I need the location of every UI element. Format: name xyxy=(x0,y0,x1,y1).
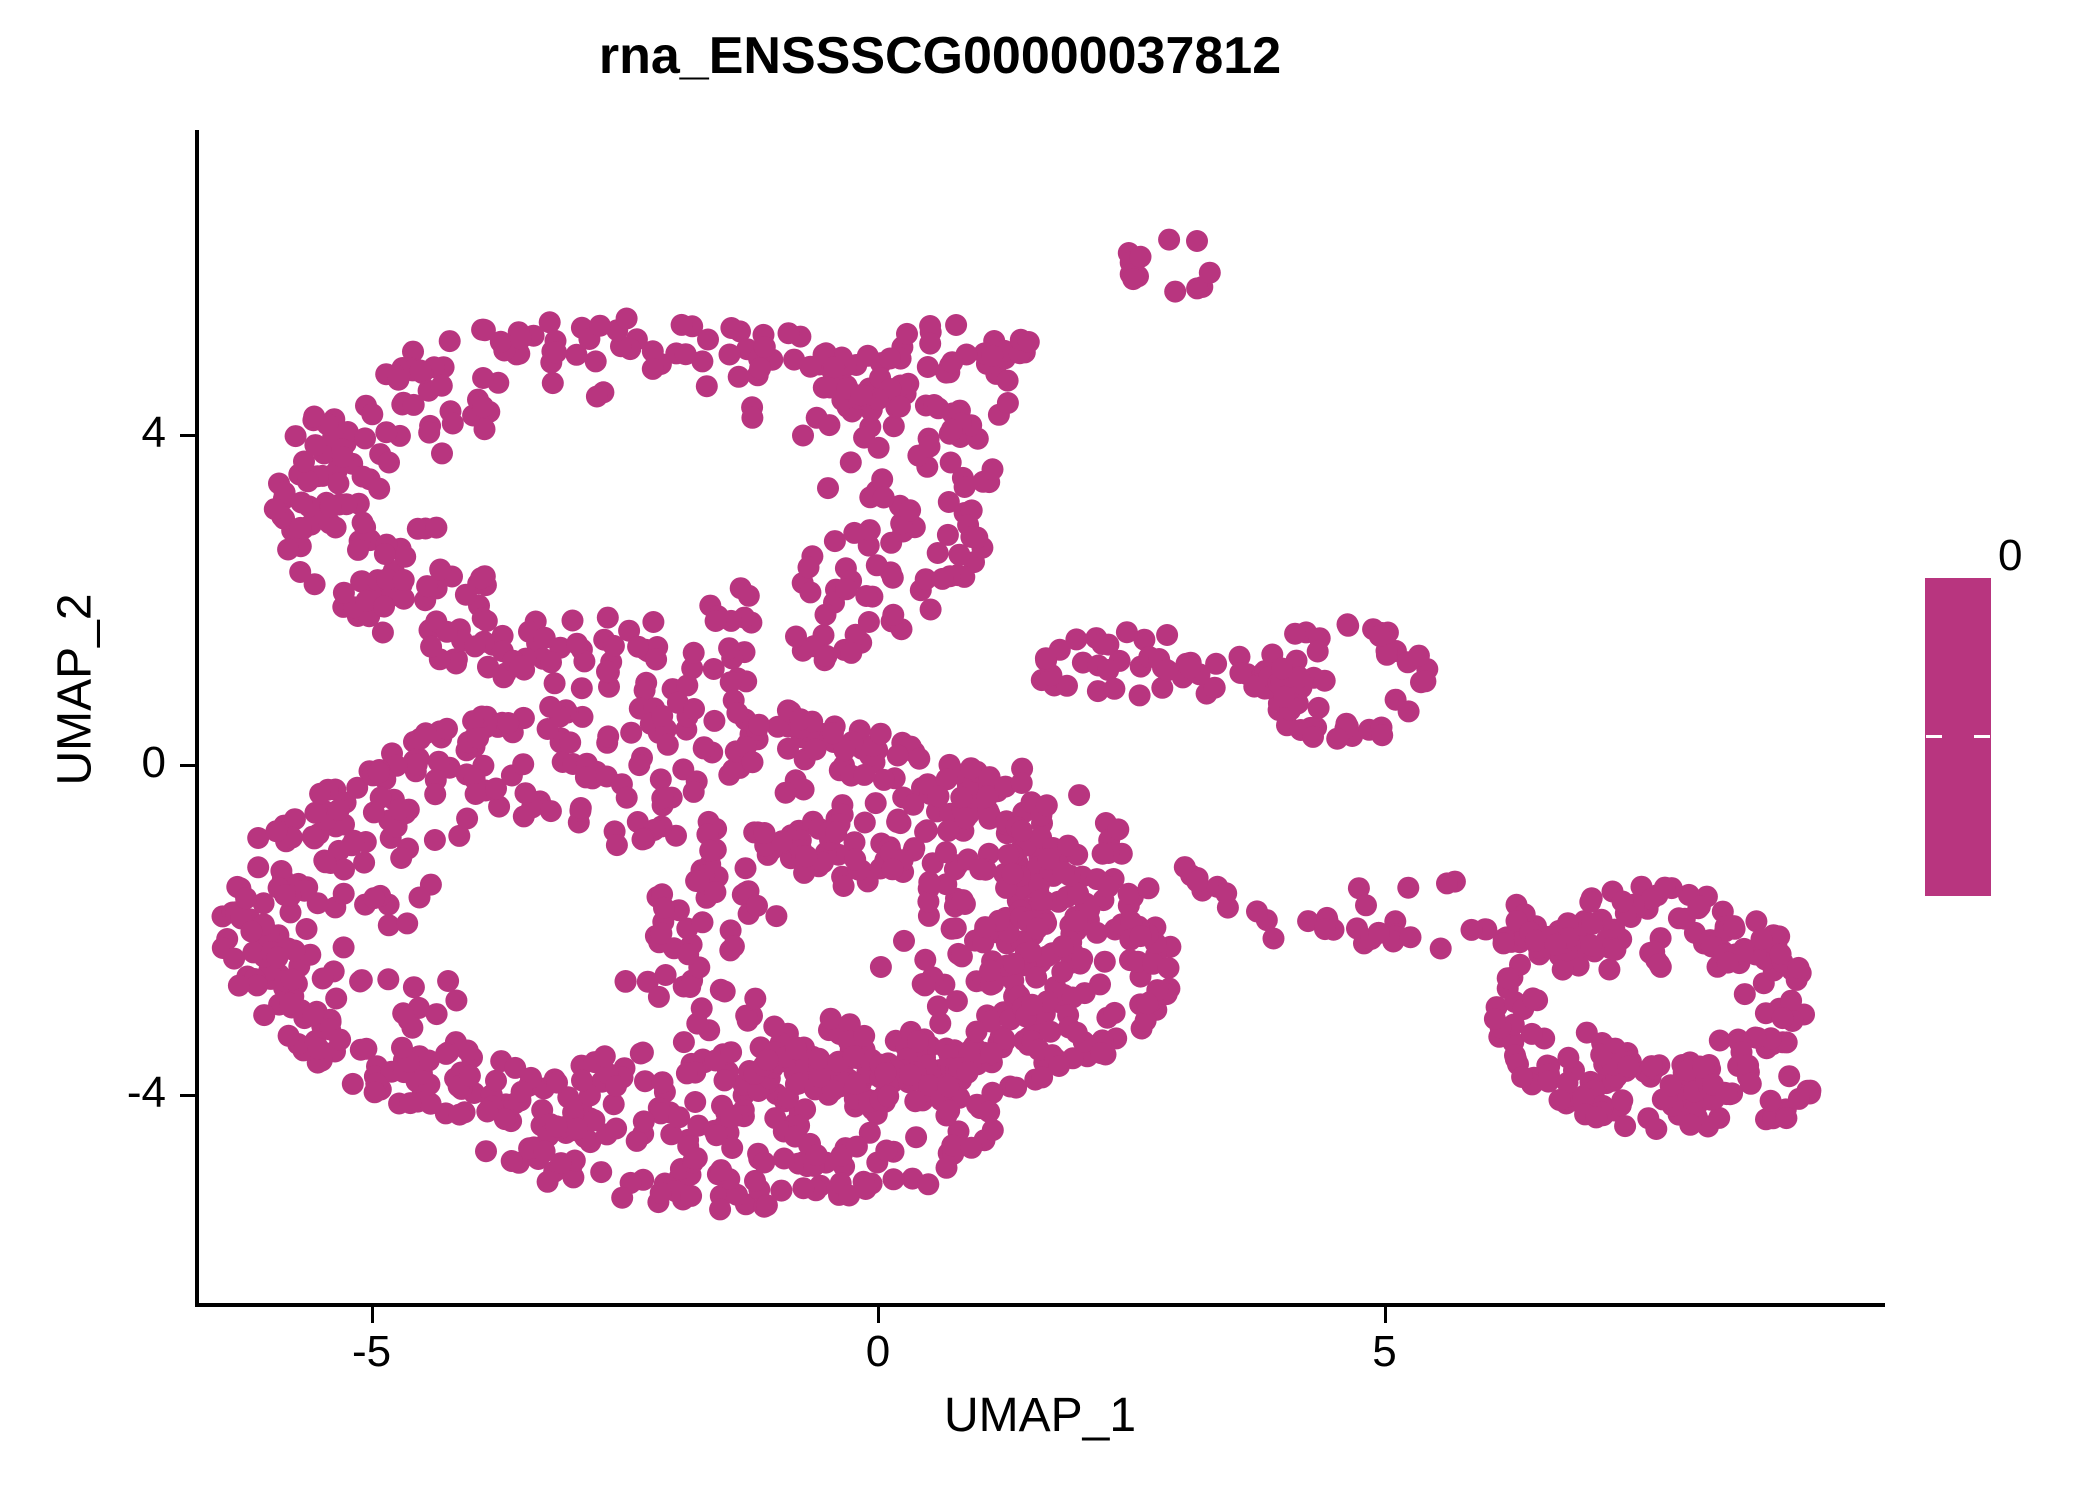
scatter-point xyxy=(1786,969,1808,991)
scatter-point xyxy=(311,465,333,487)
scatter-point xyxy=(1781,959,1803,981)
scatter-point xyxy=(428,751,450,773)
scatter-point xyxy=(857,1057,879,1079)
scatter-point xyxy=(571,317,593,339)
scatter-point xyxy=(812,723,834,745)
scatter-point xyxy=(1760,1090,1782,1112)
scatter-point xyxy=(870,352,892,374)
scatter-point xyxy=(917,773,939,795)
scatter-point xyxy=(828,1184,850,1206)
scatter-point xyxy=(370,787,392,809)
scatter-point xyxy=(475,574,497,596)
scatter-point xyxy=(628,754,650,776)
scatter-point xyxy=(323,960,345,982)
scatter-point xyxy=(1107,818,1129,840)
scatter-point xyxy=(290,999,312,1021)
scatter-point xyxy=(727,667,749,689)
scatter-point xyxy=(756,1194,778,1216)
scatter-point xyxy=(1762,1107,1784,1129)
scatter-point xyxy=(476,1101,498,1123)
scatter-point xyxy=(501,1150,523,1172)
scatter-point xyxy=(1012,997,1034,1019)
scatter-point xyxy=(733,1074,755,1096)
scatter-point xyxy=(744,988,766,1010)
scatter-point xyxy=(1003,953,1025,975)
scatter-point xyxy=(922,852,944,874)
scatter-point xyxy=(799,1050,821,1072)
scatter-point xyxy=(454,1101,476,1123)
scatter-point xyxy=(667,692,689,714)
scatter-point xyxy=(1661,1094,1683,1116)
scatter-point xyxy=(988,1031,1010,1053)
scatter-point xyxy=(824,1054,846,1076)
scatter-point xyxy=(910,579,932,601)
scatter-point xyxy=(1693,933,1715,955)
scatter-point xyxy=(848,388,870,410)
scatter-point xyxy=(960,526,982,548)
scatter-point xyxy=(1689,1056,1711,1078)
scatter-point xyxy=(1573,910,1595,932)
scatter-point xyxy=(1087,680,1109,702)
scatter-point xyxy=(1138,646,1160,668)
scatter-point xyxy=(1172,666,1194,688)
scatter-point xyxy=(672,1189,694,1211)
colorbar-tick-right xyxy=(1974,735,1990,738)
scatter-point xyxy=(551,1116,573,1138)
scatter-point xyxy=(423,356,445,378)
scatter-point xyxy=(840,570,862,592)
scatter-point xyxy=(783,349,805,371)
scatter-point xyxy=(818,821,840,843)
scatter-point xyxy=(378,894,400,916)
scatter-point xyxy=(1254,660,1276,682)
scatter-point xyxy=(578,328,600,350)
scatter-point xyxy=(1615,1060,1637,1082)
scatter-point xyxy=(1355,894,1377,916)
scatter-point xyxy=(1021,994,1043,1016)
scatter-point xyxy=(1069,953,1091,975)
scatter-point xyxy=(1598,959,1620,981)
scatter-point xyxy=(1640,888,1662,910)
scatter-point xyxy=(1475,918,1497,940)
scatter-point xyxy=(1131,1018,1153,1040)
scatter-point xyxy=(790,708,812,730)
scatter-point xyxy=(1652,1088,1674,1110)
scatter-point xyxy=(1186,871,1208,893)
scatter-point xyxy=(564,1150,586,1172)
scatter-point xyxy=(487,716,509,738)
scatter-point xyxy=(954,476,976,498)
scatter-point xyxy=(884,767,906,789)
scatter-point xyxy=(1692,1061,1714,1083)
scatter-point xyxy=(919,783,941,805)
scatter-point xyxy=(302,1003,324,1025)
scatter-point xyxy=(919,1035,941,1057)
scatter-point xyxy=(652,794,674,816)
scatter-point xyxy=(948,1087,970,1109)
scatter-point xyxy=(996,822,1018,844)
scatter-point xyxy=(734,641,756,663)
scatter-point xyxy=(317,779,339,801)
scatter-point xyxy=(963,551,985,573)
scatter-point xyxy=(370,763,392,785)
scatter-point xyxy=(350,570,372,592)
scatter-point xyxy=(1486,996,1508,1018)
scatter-point xyxy=(808,855,830,877)
scatter-point xyxy=(603,1093,625,1115)
scatter-point xyxy=(1287,692,1309,714)
scatter-point xyxy=(603,635,625,657)
scatter-point xyxy=(415,722,437,744)
scatter-point xyxy=(677,706,699,728)
scatter-point xyxy=(532,648,554,670)
scatter-point xyxy=(1772,951,1794,973)
scatter-point xyxy=(1058,1017,1080,1039)
scatter-point xyxy=(754,822,776,844)
scatter-point xyxy=(785,1038,807,1060)
scatter-point xyxy=(941,918,963,940)
scatter-point xyxy=(714,1069,736,1091)
scatter-point xyxy=(982,972,1004,994)
scatter-point xyxy=(1500,931,1522,953)
scatter-point xyxy=(796,728,818,750)
scatter-point xyxy=(1215,882,1237,904)
scatter-point xyxy=(348,493,370,515)
scatter-point xyxy=(472,367,494,389)
scatter-point xyxy=(418,1073,440,1095)
scatter-point xyxy=(550,1152,572,1174)
scatter-point xyxy=(906,1041,928,1063)
scatter-point xyxy=(837,377,859,399)
scatter-point xyxy=(435,1043,457,1065)
scatter-point xyxy=(1071,866,1093,888)
scatter-point xyxy=(1603,1100,1625,1122)
scatter-point xyxy=(1176,653,1198,675)
scatter-point xyxy=(791,1071,813,1093)
scatter-point xyxy=(1525,930,1547,952)
scatter-point xyxy=(236,966,258,988)
scatter-point xyxy=(562,610,584,632)
scatter-point xyxy=(747,728,769,750)
scatter-point xyxy=(1014,341,1036,363)
scatter-point xyxy=(306,1001,328,1023)
scatter-point xyxy=(445,1031,467,1053)
scatter-point xyxy=(939,355,961,377)
scatter-point xyxy=(973,970,995,992)
y-tick-mark xyxy=(180,764,196,767)
scatter-point xyxy=(1602,1040,1624,1062)
scatter-point xyxy=(1368,922,1390,944)
scatter-point xyxy=(995,955,1017,977)
scatter-point xyxy=(273,815,295,837)
scatter-point xyxy=(1047,891,1069,913)
scatter-point xyxy=(298,495,320,517)
scatter-point xyxy=(845,1047,867,1069)
scatter-point xyxy=(655,718,677,740)
scatter-point xyxy=(856,1062,878,1084)
scatter-point xyxy=(1574,1103,1596,1125)
scatter-point xyxy=(1284,623,1306,645)
scatter-point xyxy=(875,1062,897,1084)
scatter-point xyxy=(1111,843,1133,865)
colorbar-legend[interactable] xyxy=(1925,578,1991,896)
scatter-point xyxy=(1018,331,1040,353)
scatter-point xyxy=(1090,1042,1112,1064)
scatter-point xyxy=(777,716,799,738)
scatter-point xyxy=(859,416,881,438)
scatter-point xyxy=(1521,1023,1543,1045)
scatter-point xyxy=(662,678,684,700)
scatter-point xyxy=(1637,1107,1659,1129)
scatter-point xyxy=(315,851,337,873)
scatter-point xyxy=(673,1031,695,1053)
scatter-point xyxy=(1317,910,1339,932)
scatter-point xyxy=(879,348,901,370)
scatter-point xyxy=(273,977,295,999)
scatter-point xyxy=(403,394,425,416)
scatter-point xyxy=(333,883,355,905)
scatter-point xyxy=(1066,1022,1088,1044)
scatter-point xyxy=(853,385,875,407)
scatter-point xyxy=(1371,717,1393,739)
scatter-point xyxy=(857,870,879,892)
scatter-point xyxy=(1104,1002,1126,1024)
scatter-point xyxy=(844,831,866,853)
scatter-point xyxy=(476,706,498,728)
scatter-point xyxy=(1008,985,1030,1007)
scatter-point xyxy=(650,768,672,790)
scatter-point xyxy=(1128,916,1150,938)
scatter-point xyxy=(997,844,1019,866)
scatter-point xyxy=(829,1023,851,1045)
scatter-point xyxy=(790,839,812,861)
scatter-point xyxy=(1229,662,1251,684)
scatter-point xyxy=(889,396,911,418)
scatter-point xyxy=(1763,959,1785,981)
scatter-point xyxy=(482,634,504,656)
scatter-point xyxy=(691,859,713,881)
scatter-point xyxy=(225,901,247,923)
scatter-point xyxy=(246,974,268,996)
scatter-point xyxy=(651,815,673,837)
scatter-point xyxy=(824,715,846,737)
scatter-point xyxy=(877,1085,899,1107)
scatter-point xyxy=(299,944,321,966)
scatter-point xyxy=(874,1091,896,1113)
scatter-point xyxy=(229,877,251,899)
scatter-point xyxy=(765,905,787,927)
scatter-point xyxy=(414,589,436,611)
scatter-point xyxy=(1746,940,1768,962)
scatter-point xyxy=(389,798,411,820)
scatter-point xyxy=(1259,666,1281,688)
scatter-point xyxy=(919,333,941,355)
scatter-point xyxy=(262,929,284,951)
scatter-point xyxy=(307,1052,329,1074)
scatter-point xyxy=(843,1045,865,1067)
scatter-point xyxy=(885,396,907,418)
scatter-point xyxy=(566,1118,588,1140)
scatter-point xyxy=(835,355,857,377)
scatter-point xyxy=(733,1099,755,1121)
scatter-point xyxy=(719,939,741,961)
scatter-point xyxy=(923,394,945,416)
scatter-point xyxy=(398,799,420,821)
scatter-point xyxy=(464,768,486,790)
scatter-point xyxy=(437,1041,459,1063)
scatter-point xyxy=(515,648,537,670)
scatter-point xyxy=(316,413,338,435)
scatter-point xyxy=(448,825,470,847)
scatter-point xyxy=(1130,656,1152,678)
scatter-point xyxy=(1301,719,1323,741)
scatter-point xyxy=(363,801,385,823)
scatter-point xyxy=(987,780,1009,802)
scatter-point xyxy=(774,1049,796,1071)
scatter-point xyxy=(1276,714,1298,736)
scatter-point xyxy=(614,1057,636,1079)
scatter-point xyxy=(626,1130,648,1152)
scatter-point xyxy=(1523,1067,1545,1089)
scatter-point xyxy=(960,414,982,436)
scatter-point xyxy=(1021,791,1043,813)
scatter-point xyxy=(311,1015,333,1037)
scatter-point xyxy=(1041,942,1063,964)
scatter-point xyxy=(1761,1033,1783,1055)
scatter-point xyxy=(845,354,867,376)
scatter-point xyxy=(1097,876,1119,898)
scatter-point xyxy=(805,739,827,761)
scatter-point xyxy=(1734,983,1756,1005)
scatter-point xyxy=(957,774,979,796)
scatter-point xyxy=(938,1070,960,1092)
scatter-point xyxy=(518,1137,540,1159)
scatter-point xyxy=(720,317,742,339)
scatter-point xyxy=(977,800,999,822)
scatter-point xyxy=(424,783,446,805)
scatter-point xyxy=(710,1185,732,1207)
scatter-point xyxy=(903,741,925,763)
scatter-point xyxy=(1578,1102,1600,1124)
scatter-point xyxy=(361,403,383,425)
scatter-point xyxy=(1001,863,1023,885)
scatter-point xyxy=(935,362,957,384)
scatter-point xyxy=(1544,934,1566,956)
scatter-point xyxy=(982,1119,1004,1141)
scatter-point xyxy=(1001,844,1023,866)
scatter-point xyxy=(612,1067,634,1089)
scatter-point xyxy=(1576,1098,1598,1120)
scatter-point xyxy=(552,751,574,773)
scatter-point xyxy=(598,676,620,698)
scatter-point xyxy=(749,357,771,379)
scatter-point xyxy=(1020,941,1042,963)
scatter-point xyxy=(473,631,495,653)
scatter-point xyxy=(903,837,925,859)
scatter-point xyxy=(765,1083,787,1105)
scatter-point xyxy=(1005,981,1027,1003)
scatter-point xyxy=(485,1070,507,1092)
scatter-point xyxy=(1140,990,1162,1012)
scatter-point xyxy=(572,706,594,728)
scatter-point xyxy=(369,443,391,465)
scatter-point xyxy=(966,1021,988,1043)
scatter-point xyxy=(445,990,467,1012)
scatter-point xyxy=(813,624,835,646)
scatter-point xyxy=(1511,1066,1533,1088)
scatter-point xyxy=(770,1180,792,1202)
scatter-point xyxy=(1384,910,1406,932)
scatter-point xyxy=(819,377,841,399)
scatter-point xyxy=(1548,920,1570,942)
scatter-point xyxy=(398,1009,420,1031)
scatter-point xyxy=(1297,910,1319,932)
scatter-point xyxy=(467,727,489,749)
scatter-point xyxy=(893,1059,915,1081)
scatter-point xyxy=(1709,1030,1731,1052)
scatter-point xyxy=(966,970,988,992)
scatter-point xyxy=(216,928,238,950)
scatter-point xyxy=(319,1018,341,1040)
scatter-point xyxy=(918,428,940,450)
scatter-point xyxy=(1528,943,1550,965)
scatter-point xyxy=(884,1059,906,1081)
scatter-point xyxy=(994,340,1016,362)
scatter-point xyxy=(1729,1031,1751,1053)
scatter-point xyxy=(244,968,266,990)
scatter-point xyxy=(405,760,427,782)
scatter-point xyxy=(804,1078,826,1100)
scatter-point xyxy=(495,1093,517,1115)
scatter-point xyxy=(718,1122,740,1144)
scatter-point xyxy=(429,559,451,581)
scatter-point xyxy=(815,1152,837,1174)
scatter-point xyxy=(430,727,452,749)
scatter-point xyxy=(796,845,818,867)
scatter-point xyxy=(616,787,638,809)
scatter-point xyxy=(507,342,529,364)
scatter-point xyxy=(490,1050,512,1072)
scatter-point xyxy=(808,1048,830,1070)
scatter-point xyxy=(767,1051,789,1073)
scatter-point xyxy=(355,395,377,417)
scatter-point xyxy=(869,1054,891,1076)
scatter-point xyxy=(898,1062,920,1084)
scatter-point xyxy=(938,1100,960,1122)
scatter-point xyxy=(892,521,914,543)
scatter-point xyxy=(895,1062,917,1084)
scatter-point xyxy=(605,1118,627,1140)
scatter-point xyxy=(966,1053,988,1075)
scatter-point xyxy=(670,1158,692,1180)
scatter-point xyxy=(597,725,619,747)
x-tick-label: -5 xyxy=(302,1330,442,1374)
scatter-point xyxy=(750,1036,772,1058)
scatter-point xyxy=(559,1114,581,1136)
scatter-point xyxy=(302,409,324,431)
scatter-point xyxy=(835,1137,857,1159)
scatter-point xyxy=(748,348,770,370)
scatter-point xyxy=(1772,1007,1794,1029)
scatter-point xyxy=(1308,697,1330,719)
scatter-point xyxy=(738,1060,760,1082)
scatter-point xyxy=(1156,983,1178,1005)
scatter-point xyxy=(1013,1030,1035,1052)
scatter-point xyxy=(1602,881,1624,903)
scatter-point xyxy=(377,968,399,990)
scatter-point xyxy=(1754,949,1776,971)
scatter-point xyxy=(282,985,304,1007)
